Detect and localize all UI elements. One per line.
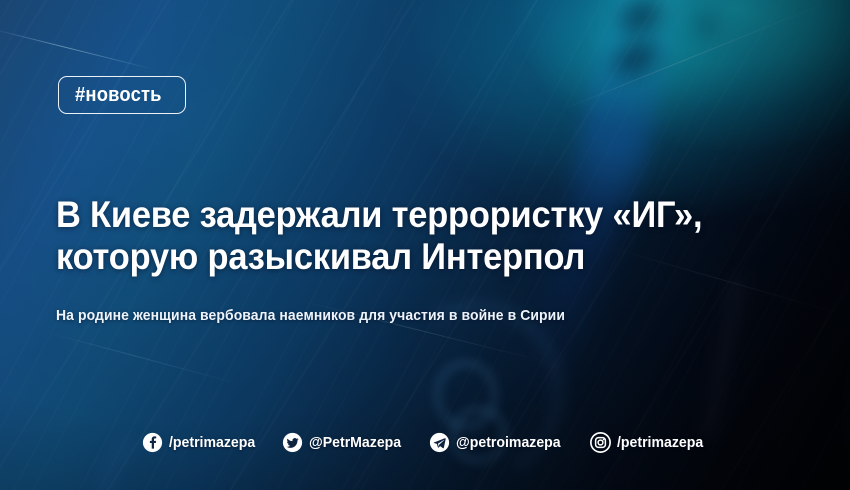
social-links-bar: /petrimazepa @PetrMazepa @petroimazepa xyxy=(0,432,850,453)
twitter-icon xyxy=(282,432,303,453)
social-handle-telegram: @petroimazepa xyxy=(456,435,561,450)
card-content: #новость В Киеве задержали террористку «… xyxy=(0,0,850,490)
social-link-twitter[interactable]: @PetrMazepa xyxy=(282,432,407,453)
social-link-facebook[interactable]: /petrimazepa xyxy=(142,432,261,453)
telegram-icon xyxy=(429,432,450,453)
social-link-instagram[interactable]: /petrimazepa xyxy=(590,432,709,453)
instagram-icon xyxy=(590,432,611,453)
social-handle-twitter: @PetrMazepa xyxy=(309,435,401,450)
social-handle-instagram: /petrimazepa xyxy=(617,435,703,450)
page-subtitle: На родине женщина вербовала наемников дл… xyxy=(56,306,763,326)
facebook-icon xyxy=(142,432,163,453)
social-handle-facebook: /petrimazepa xyxy=(169,435,255,450)
social-link-telegram[interactable]: @petroimazepa xyxy=(429,432,567,453)
category-badge[interactable]: #новость xyxy=(58,76,186,114)
news-card: #новость В Киеве задержали террористку «… xyxy=(0,0,850,490)
category-badge-label: #новость xyxy=(75,85,162,105)
page-title: В Киеве задержали террористку «ИГ», кото… xyxy=(56,194,744,278)
